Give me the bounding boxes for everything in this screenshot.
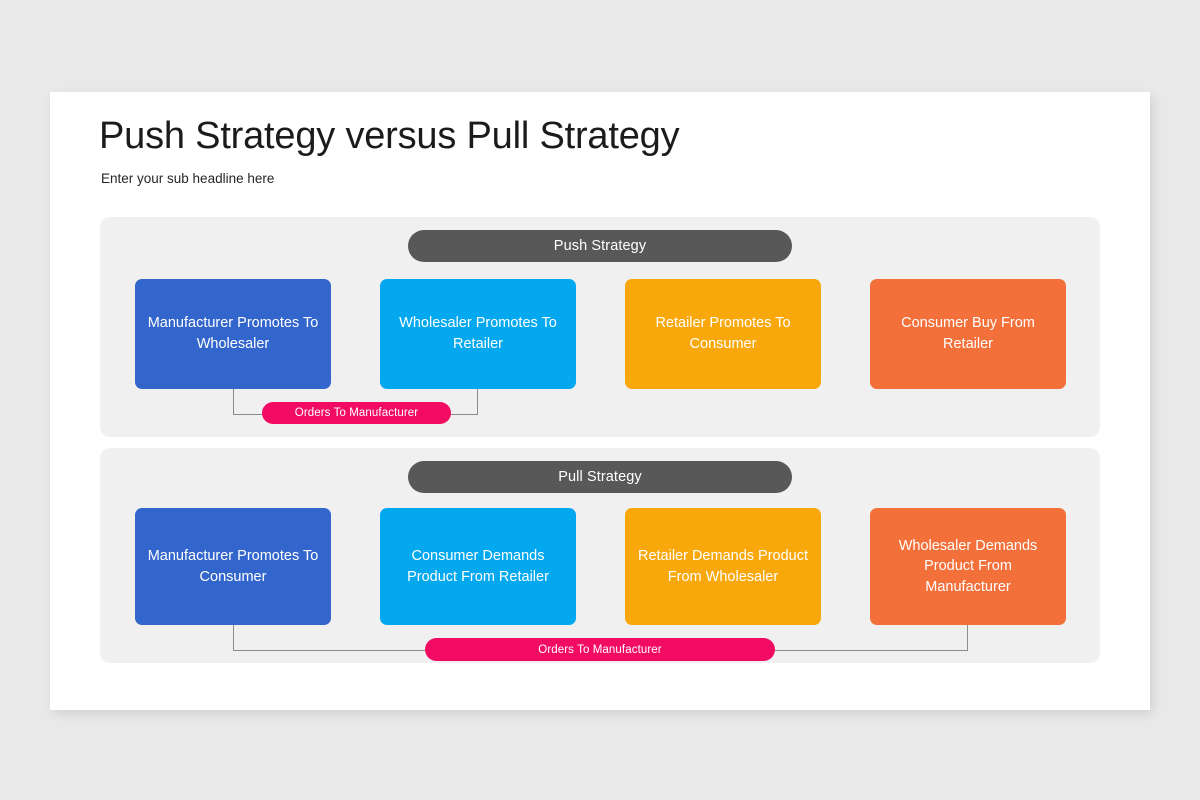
page-subtitle: Enter your sub headline here: [101, 171, 1099, 186]
node-push-manufacturer-promotes-wholesaler[interactable]: Manufacturer Promotes To Wholesaler: [135, 279, 331, 389]
node-push-wholesaler-promotes-retailer[interactable]: Wholesaler Promotes To Retailer: [380, 279, 576, 389]
node-pull-manufacturer-promotes-consumer[interactable]: Manufacturer Promotes To Consumer: [135, 508, 331, 625]
push-strategy-panel: Push Strategy Manufacturer Promotes To W…: [100, 217, 1100, 437]
node-push-retailer-promotes-consumer[interactable]: Retailer Promotes To Consumer: [625, 279, 821, 389]
pull-strategy-panel: Pull Strategy Manufacturer Promotes To C…: [100, 448, 1100, 663]
node-push-consumer-buy-from-retailer[interactable]: Consumer Buy From Retailer: [870, 279, 1066, 389]
pull-orders-to-manufacturer-pill[interactable]: Orders To Manufacturer: [425, 638, 775, 661]
page-title: Push Strategy versus Pull Strategy: [99, 117, 1099, 157]
node-pull-consumer-demands-from-retailer[interactable]: Consumer Demands Product From Retailer: [380, 508, 576, 625]
heading-block: Push Strategy versus Pull Strategy Enter…: [99, 117, 1099, 186]
slide-canvas: Push Strategy versus Pull Strategy Enter…: [50, 92, 1150, 710]
node-pull-wholesaler-demands-from-manufacturer[interactable]: Wholesaler Demands Product From Manufact…: [870, 508, 1066, 625]
node-pull-retailer-demands-from-wholesaler[interactable]: Retailer Demands Product From Wholesaler: [625, 508, 821, 625]
push-orders-to-manufacturer-pill[interactable]: Orders To Manufacturer: [262, 402, 451, 424]
